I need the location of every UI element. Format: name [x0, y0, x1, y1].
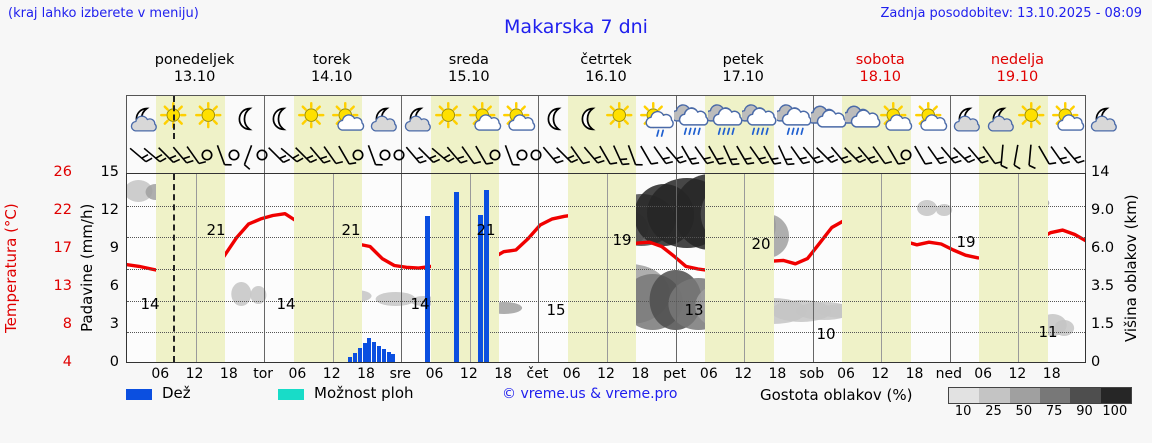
cloud-density-tick: 100: [1102, 404, 1127, 419]
time-tick: 12: [597, 366, 615, 382]
temperature-tick: 8: [32, 316, 72, 332]
sky-icon-sun: [605, 98, 643, 138]
rain-legend-label: Dež: [162, 384, 191, 402]
cloud-height-axis-title: Višina oblakov (km): [1122, 168, 1146, 368]
forecast-plot: [126, 173, 1086, 363]
precipitation-bar: [348, 357, 352, 362]
sky-icon-sun-cloud: [914, 98, 952, 138]
time-tick: 06: [289, 366, 307, 382]
cloud-density-tick: 25: [985, 404, 1002, 419]
current-time-marker: [173, 174, 175, 362]
time-tick: 12: [1009, 366, 1027, 382]
day-date: 13.10: [126, 69, 263, 86]
copyright-link[interactable]: © vreme.us & vreme.pro: [502, 386, 677, 402]
time-tick: 12: [186, 366, 204, 382]
cloud-density-swatch: [1040, 388, 1070, 403]
cloud-density-swatch: [1101, 388, 1131, 403]
sky-icon-sun: [194, 98, 232, 138]
gridline: [127, 301, 1085, 302]
sky-icon-cloud-rain: [708, 98, 746, 138]
cloud-density-blob: [917, 200, 937, 216]
cloud-density-swatch: [949, 388, 979, 403]
precipitation-bar: [382, 349, 386, 362]
sky-icon-moon: [537, 98, 575, 138]
halfday-separator: [881, 174, 882, 362]
time-tick: 18: [1043, 366, 1061, 382]
sky-icon-moon-cloud: [365, 98, 403, 138]
day-header-ponedeljek: ponedeljek13.10: [126, 52, 263, 86]
time-tick: sob: [799, 366, 824, 382]
cloud-density-blob: [231, 282, 251, 306]
cloud-density-swatch: [1010, 388, 1040, 403]
gridline: [127, 206, 1085, 207]
sky-icon-sun-cloud: [1051, 98, 1089, 138]
time-tick: 06: [563, 366, 581, 382]
temperature-tick: 17: [32, 240, 72, 256]
time-tick: 06: [700, 366, 718, 382]
sky-icon-sun-cloud: [502, 98, 540, 138]
halfday-separator: [470, 174, 471, 362]
sky-icon-moon-cloud: [125, 98, 163, 138]
day-name: nedelja: [949, 52, 1086, 69]
sky-icon-cloud-rain: [674, 98, 712, 138]
cloud-height-tick: 6.0: [1091, 240, 1135, 256]
cloud-density-tick: 50: [1016, 404, 1033, 419]
day-separator: [538, 174, 539, 362]
precipitation-bar: [353, 353, 357, 362]
precipitation-bar: [425, 216, 430, 362]
sky-icon-sun: [159, 98, 197, 138]
halfday-separator: [607, 174, 608, 362]
temperature-tick: 4: [32, 354, 72, 370]
sky-icon-sun: [434, 98, 472, 138]
precipitation-tick: 9: [95, 240, 119, 256]
time-tick: 06: [151, 366, 169, 382]
precipitation-tick: 15: [95, 164, 119, 180]
halfday-separator: [1018, 174, 1019, 362]
daylight-band: [431, 174, 500, 362]
day-date: 15.10: [400, 69, 537, 86]
wind-barb-row: [126, 139, 1086, 173]
gridline: [127, 332, 1085, 333]
temperature-tick: 13: [32, 278, 72, 294]
day-name: ponedeljek: [126, 52, 263, 69]
sky-condition-row: [126, 95, 1086, 139]
time-tick: tor: [253, 366, 273, 382]
sky-icon-moon-cloud: [982, 98, 1020, 138]
daylight-band: [294, 174, 363, 362]
day-date: 19.10: [949, 69, 1086, 86]
day-name: četrtek: [537, 52, 674, 69]
day-header-četrtek: četrtek16.10: [537, 52, 674, 86]
showers-legend-swatch: [278, 389, 304, 400]
day-date: 16.10: [537, 69, 674, 86]
precipitation-bar: [454, 192, 459, 362]
last-updated: Zadnja posodobitev: 13.10.2025 - 08:09: [880, 6, 1142, 21]
day-date: 18.10: [812, 69, 949, 86]
temperature-label: 15: [546, 301, 565, 319]
cloud-height-tick: 1.5: [1091, 316, 1135, 332]
cloud-height-tick: 3.5: [1091, 278, 1135, 294]
day-separator: [676, 174, 677, 362]
temperature-label: 19: [956, 233, 975, 251]
time-tick: 18: [769, 366, 787, 382]
temperature-label: 19: [612, 231, 631, 249]
cloud-density-tick: 90: [1076, 404, 1093, 419]
time-tick: ned: [936, 366, 962, 382]
day-name: torek: [263, 52, 400, 69]
sky-icon-cloud: [845, 98, 883, 138]
time-tick: 12: [323, 366, 341, 382]
sky-icon-cloud-rain: [742, 98, 780, 138]
halfday-separator: [744, 174, 745, 362]
day-separator: [264, 174, 265, 362]
cloud-density-legend-title: Gostota oblakov (%): [760, 386, 913, 404]
sky-icon-cloud: [811, 98, 849, 138]
precipitation-axis-title: Padavine (mm/h): [78, 168, 102, 368]
daylight-band: [705, 174, 774, 362]
time-tick: pet: [663, 366, 686, 382]
precipitation-tick: 3: [95, 316, 119, 332]
precipitation-bar: [358, 348, 362, 362]
daylight-band: [156, 174, 225, 362]
day-date: 17.10: [675, 69, 812, 86]
precipitation-tick: 6: [95, 278, 119, 294]
gridline: [127, 269, 1085, 270]
time-tick: čet: [527, 366, 549, 382]
time-tick: 18: [357, 366, 375, 382]
time-tick: 12: [734, 366, 752, 382]
time-tick: 06: [426, 366, 444, 382]
day-header-torek: torek14.10: [263, 52, 400, 86]
day-date: 14.10: [263, 69, 400, 86]
cloud-density-tick: 75: [1046, 404, 1063, 419]
precipitation-bar: [372, 342, 376, 362]
precipitation-bar: [387, 352, 391, 362]
temperature-tick: 22: [32, 202, 72, 218]
cloud-height-tick: 14: [1091, 164, 1135, 180]
halfday-separator: [196, 174, 197, 362]
temperature-tick: 26: [32, 164, 72, 180]
gridline: [127, 237, 1085, 238]
precipitation-bar: [391, 354, 395, 362]
day-separator: [950, 174, 951, 362]
sky-icon-moon: [262, 98, 300, 138]
temperature-label: 21: [476, 221, 495, 239]
sky-icon-sun: [1017, 98, 1055, 138]
current-time-marker: [173, 96, 175, 139]
sky-icon-sun: [297, 98, 335, 138]
day-separator: [813, 174, 814, 362]
day-header-nedelja: nedelja19.10: [949, 52, 1086, 86]
time-tick: 18: [494, 366, 512, 382]
cloud-density-swatch: [979, 388, 1009, 403]
precipitation-tick: 12: [95, 202, 119, 218]
temperature-label: 21: [206, 221, 225, 239]
temperature-label: 13: [684, 301, 703, 319]
time-tick: 18: [906, 366, 924, 382]
sky-icon-sun-cloud: [331, 98, 369, 138]
day-header-petek: petek17.10: [675, 52, 812, 86]
time-tick: 12: [871, 366, 889, 382]
precipitation-bar: [363, 343, 367, 362]
day-name: sobota: [812, 52, 949, 69]
day-name: petek: [675, 52, 812, 69]
sky-icon-cloud-rain: [777, 98, 815, 138]
time-tick: 06: [974, 366, 992, 382]
daylight-band: [842, 174, 911, 362]
halfday-separator: [333, 174, 334, 362]
temperature-label: 14: [140, 295, 159, 313]
legend: Dež Možnost ploh © vreme.us & vreme.pro …: [126, 386, 1150, 430]
sky-icon-moon: [571, 98, 609, 138]
sky-icon-moon-cloud: [1085, 98, 1123, 138]
time-tick: 18: [220, 366, 238, 382]
cloud-density-swatch: [1070, 388, 1100, 403]
day-separator: [401, 174, 402, 362]
sky-icon-moon-cloud: [399, 98, 437, 138]
day-header-sobota: sobota18.10: [812, 52, 949, 86]
time-tick: 18: [631, 366, 649, 382]
sky-icon-moon: [228, 98, 266, 138]
cloud-height-tick: 0: [1091, 354, 1135, 370]
cloud-height-tick: 9.0: [1091, 202, 1135, 218]
precipitation-tick: 0: [95, 354, 119, 370]
temperature-label: 14: [276, 295, 295, 313]
time-tick: 12: [460, 366, 478, 382]
rain-legend-swatch: [126, 389, 152, 400]
temperature-label: 14: [410, 295, 429, 313]
temperature-label: 20: [751, 235, 770, 253]
temperature-label: 10: [816, 325, 835, 343]
sky-icon-sun-cloud: [468, 98, 506, 138]
day-name: sreda: [400, 52, 537, 69]
cloud-density-colorbar: [948, 387, 1132, 404]
temperature-axis-title: Temperatura (°C): [2, 168, 26, 368]
showers-legend-label: Možnost ploh: [314, 384, 414, 402]
time-tick: 06: [837, 366, 855, 382]
precipitation-bar: [377, 346, 381, 362]
sky-icon-moon-cloud: [948, 98, 986, 138]
day-header-sreda: sreda15.10: [400, 52, 537, 86]
temperature-label: 21: [341, 221, 360, 239]
daylight-band: [568, 174, 637, 362]
temperature-label: 11: [1038, 323, 1057, 341]
precipitation-bar: [484, 190, 489, 362]
sky-icon-sun-cloud: [879, 98, 917, 138]
precipitation-bar: [367, 338, 371, 362]
time-tick: sre: [390, 366, 411, 382]
cloud-density-tick: 10: [955, 404, 972, 419]
wind-barb: [1054, 139, 1088, 171]
sky-icon-sun-cloud-rain: [639, 98, 677, 138]
